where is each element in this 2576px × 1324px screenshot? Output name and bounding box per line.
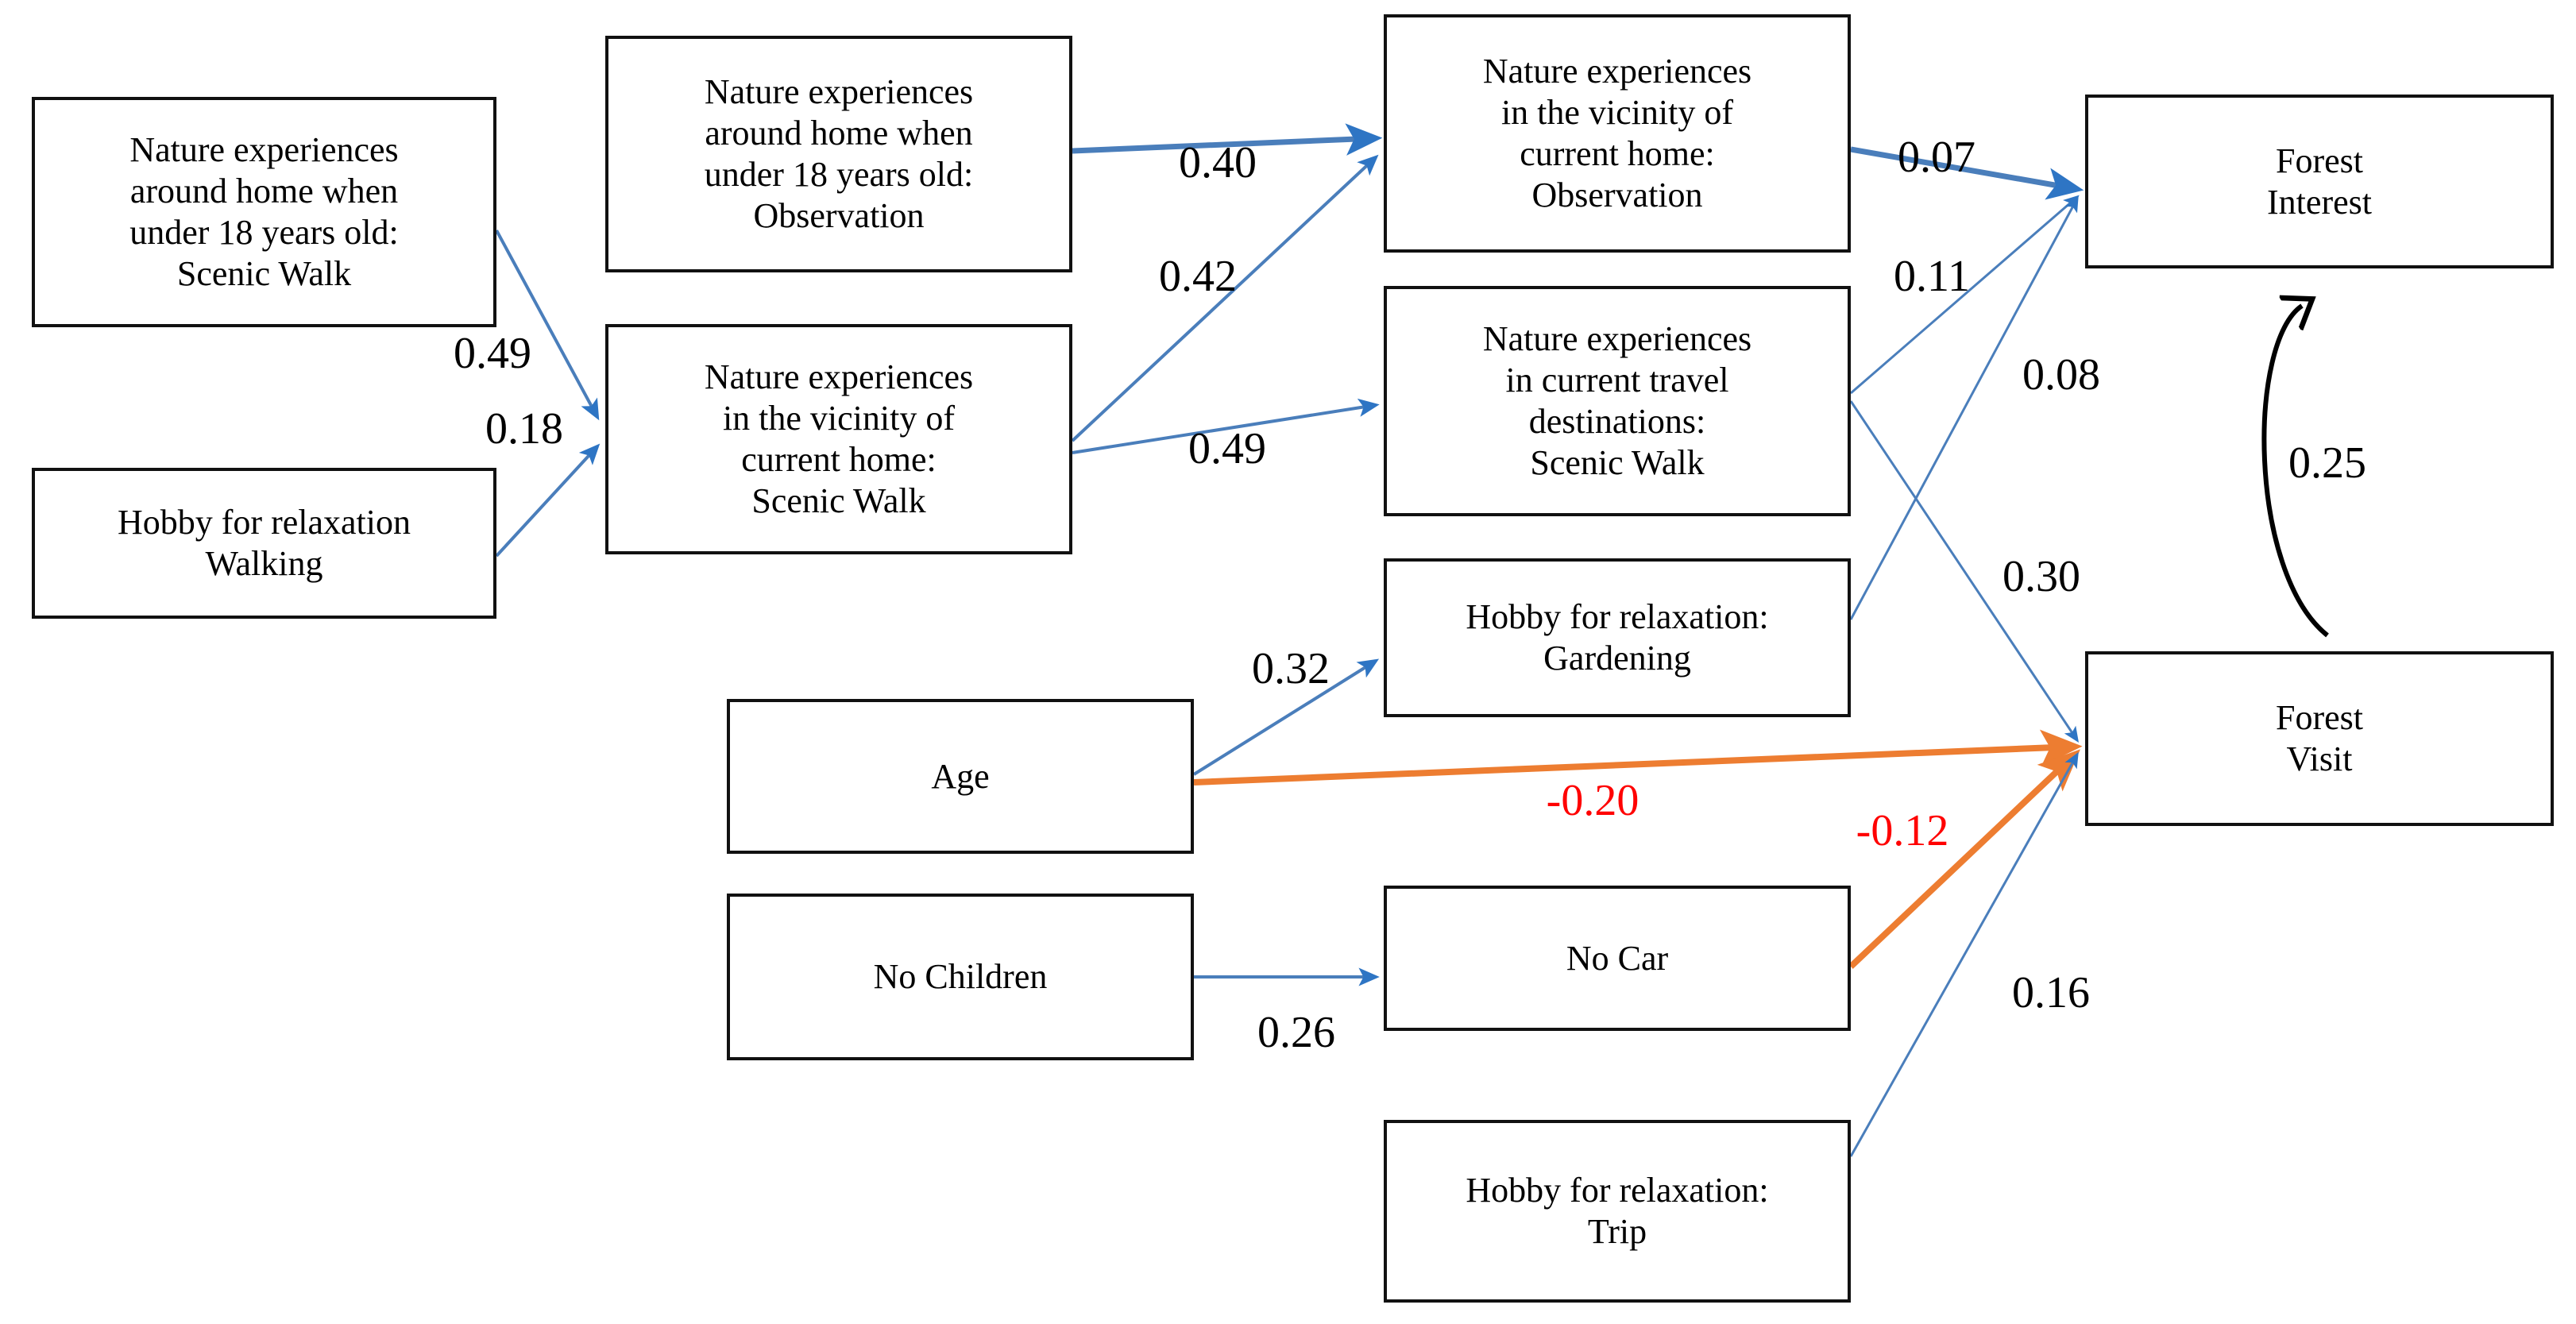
node-label: Nature experiences around home when unde…	[705, 71, 973, 237]
node-nature-home-under18-observation[interactable]: Nature experiences around home when unde…	[605, 36, 1072, 272]
edge-label-n4-n6: 0.49	[1188, 427, 1266, 471]
node-label: Nature experiences in current travel des…	[1483, 318, 1751, 484]
edge-label-n8-n7: 0.32	[1252, 647, 1330, 691]
edge-label-n2-n4: 0.18	[485, 407, 563, 451]
node-label: Age	[931, 756, 989, 797]
edge-label-n11-n13: 0.16	[2012, 971, 2090, 1015]
node-label: Nature experiences in the vicinity of cu…	[705, 357, 973, 522]
node-label: Nature experiences around home when unde…	[129, 129, 398, 295]
edge-label-n8-n13: -0.20	[1547, 778, 1639, 823]
node-label: Hobby for relaxation Walking	[118, 502, 411, 585]
node-age[interactable]: Age	[727, 699, 1194, 854]
edge-label-n4-n5: 0.42	[1159, 254, 1237, 299]
node-nature-vicinity-current-home-observation[interactable]: Nature experiences in the vicinity of cu…	[1384, 14, 1851, 253]
edge-label-n5-n12: 0.07	[1898, 135, 1975, 179]
node-label: Hobby for relaxation: Gardening	[1466, 596, 1768, 679]
edge-label-n10-n13: -0.12	[1856, 809, 1949, 853]
node-nature-travel-destinations-scenic-walk[interactable]: Nature experiences in current travel des…	[1384, 286, 1851, 516]
edge-label-n3-n5: 0.40	[1179, 141, 1257, 185]
node-forest-interest[interactable]: Forest Interest	[2085, 95, 2554, 268]
node-label: Hobby for relaxation: Trip	[1466, 1170, 1768, 1253]
node-label: No Car	[1566, 938, 1668, 979]
edge-n10-n13	[1851, 755, 2075, 967]
path-diagram-canvas: Nature experiences around home when unde…	[0, 0, 2576, 1324]
node-label: Forest Interest	[2267, 141, 2372, 223]
node-hobby-relaxation-gardening[interactable]: Hobby for relaxation: Gardening	[1384, 558, 1851, 717]
edge-label-n6-n13: 0.30	[2002, 554, 2080, 599]
node-label: No Children	[874, 956, 1048, 998]
edge-label-n7-n12: 0.08	[2022, 353, 2100, 397]
node-nature-home-under18-scenic-walk[interactable]: Nature experiences around home when unde…	[32, 97, 496, 327]
node-nature-vicinity-current-home-scenic-walk[interactable]: Nature experiences in the vicinity of cu…	[605, 324, 1072, 554]
node-no-car[interactable]: No Car	[1384, 886, 1851, 1031]
node-label: Forest Visit	[2276, 697, 2363, 780]
node-label: Nature experiences in the vicinity of cu…	[1483, 51, 1751, 216]
edge-n2-n4	[496, 446, 597, 556]
edge-label-n13-n12-correlation: 0.25	[2288, 441, 2366, 485]
edge-label-n6-n12: 0.11	[1894, 254, 1970, 299]
edge-label-n9-n10: 0.26	[1257, 1010, 1335, 1055]
node-forest-visit[interactable]: Forest Visit	[2085, 651, 2554, 826]
node-hobby-relaxation-walking[interactable]: Hobby for relaxation Walking	[32, 468, 496, 619]
node-no-children[interactable]: No Children	[727, 894, 1194, 1060]
node-hobby-relaxation-trip[interactable]: Hobby for relaxation: Trip	[1384, 1120, 1851, 1303]
edge-label-n1-n4: 0.49	[454, 331, 531, 376]
edge-n1-n4	[496, 230, 597, 417]
